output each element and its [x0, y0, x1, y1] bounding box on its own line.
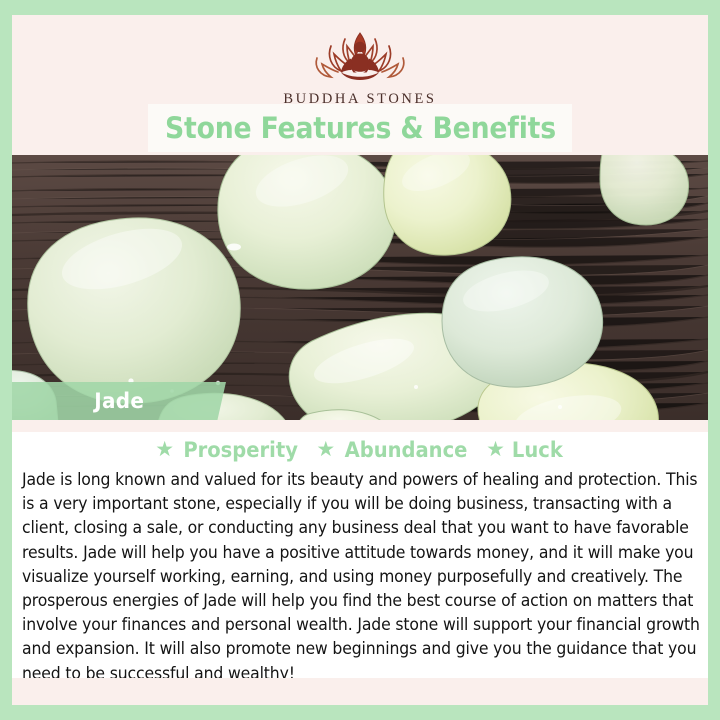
- benefit-luck: ★ Luck: [486, 438, 565, 462]
- stone-photo: [12, 155, 708, 420]
- star-icon: ★: [155, 439, 174, 460]
- photo-bottom-strip: [12, 420, 708, 432]
- lotus-meditation-icon: [301, 27, 419, 89]
- benefit-prosperity: ★ Prosperity: [155, 438, 302, 462]
- page-title-banner: Stone Features & Benefits: [148, 104, 572, 152]
- stone-name-label: Jade: [94, 389, 144, 413]
- footer-strip: [12, 678, 708, 705]
- benefits-row: ★ Prosperity ★ Abundance ★ Luck: [12, 434, 708, 466]
- star-icon: ★: [316, 439, 335, 460]
- page-title: Stone Features & Benefits: [165, 111, 556, 145]
- stone-name-band: Jade: [12, 382, 226, 420]
- stone-description-panel: ★ Prosperity ★ Abundance ★ Luck Jade is …: [12, 432, 708, 678]
- stone-info-poster: BUDDHA STONES Stone Features & Benefits: [0, 0, 720, 720]
- stone-description-text: Jade is long known and valued for its be…: [22, 468, 708, 686]
- benefit-label: Prosperity: [183, 438, 298, 462]
- star-icon: ★: [486, 439, 505, 460]
- benefit-label: Abundance: [345, 438, 468, 462]
- jade-stones-image: [12, 155, 708, 420]
- benefit-abundance: ★ Abundance: [316, 438, 472, 462]
- benefit-label: Luck: [512, 438, 563, 462]
